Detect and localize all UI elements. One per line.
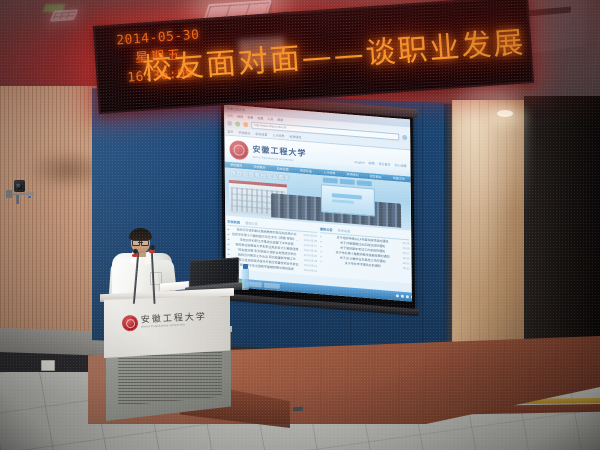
tray-icon[interactable] [396, 294, 399, 297]
bullet-icon [320, 241, 322, 243]
camera-wall-plate [6, 190, 12, 198]
browser-menu-item[interactable]: 编辑 [237, 114, 243, 118]
header-link[interactable]: 设为首页 [378, 162, 390, 167]
header-link[interactable]: 加入收藏 [394, 163, 406, 168]
microphone-windscreen [149, 250, 155, 253]
site-header-links: English 邮箱 设为首页 加入收藏 [355, 160, 407, 168]
led-headline: 校友面对面——谈职业发展 [211, 1, 532, 99]
camera-lens [16, 183, 22, 189]
system-tray [396, 294, 412, 298]
lens-right [141, 240, 149, 246]
water-bottle [242, 268, 249, 290]
wall-panel-seam [422, 102, 423, 354]
projection-screen: 安徽工程大学 文件 编辑 查看 收藏 工具 帮助 http://www.ahpu… [221, 98, 415, 310]
news-column-left: 学校新闻 通知公告 我校召开党的群众路线教育实践活动总结大会2014-05-29… [227, 219, 317, 276]
bullet-icon [320, 236, 322, 238]
search-icon[interactable] [402, 135, 407, 140]
downlight-beam [455, 112, 527, 232]
recessed-downlight [497, 110, 513, 117]
header-link[interactable]: 邮箱 [368, 161, 374, 165]
browser-menu-item[interactable]: 文件 [227, 114, 233, 118]
lecture-hall-photo: 安徽工程大学 文件 编辑 查看 收藏 工具 帮助 http://www.ahpu… [0, 0, 600, 450]
browser-tab[interactable]: 科学研究 [289, 134, 301, 139]
browser-menu-item[interactable]: 帮助 [277, 118, 283, 122]
hero-card-button[interactable] [357, 180, 372, 186]
news-tab[interactable]: 学术动态 [337, 228, 350, 234]
browser-tab[interactable]: 机构设置 [255, 131, 267, 136]
lens-left [132, 240, 140, 246]
bullet-icon [227, 238, 229, 240]
bottle-cap [243, 264, 248, 269]
news-tab-active[interactable]: 学校新闻 [227, 219, 240, 225]
bullet-icon [228, 248, 230, 250]
browser-tab[interactable]: 首页 [227, 129, 233, 133]
projected-image: 安徽工程大学 文件 编辑 查看 收藏 工具 帮助 http://www.ahpu… [224, 104, 412, 301]
site-identity: 安徽工程大学 Anhui Polytechnic University [252, 143, 306, 162]
taskbar-window-button[interactable] [264, 283, 280, 289]
dark-side-area [524, 96, 600, 356]
refresh-icon[interactable] [243, 122, 248, 127]
bullet-icon [320, 251, 322, 253]
bullet-icon [227, 228, 229, 230]
bullet-icon [320, 256, 322, 258]
camera-status-led [28, 196, 31, 198]
podium-logo-text: 安徽工程大学 Anhui Polytechnic University [141, 312, 208, 329]
eyeglasses-icon [132, 240, 149, 244]
hero-overlay-card[interactable] [321, 184, 375, 216]
news-date: 05-22 [403, 266, 410, 272]
tray-icon[interactable] [406, 295, 409, 298]
wall-power-outlet[interactable] [41, 360, 55, 371]
bullet-icon [228, 253, 230, 255]
header-link[interactable]: English [355, 160, 365, 165]
bullet-icon [227, 243, 229, 245]
tray-icon[interactable] [411, 295, 412, 298]
browser-window-title: 安徽工程大学 [227, 107, 245, 112]
news-column-right: 通知公告 学术动态 关于组织申报2014年度科研项目的通知05-29 关于开展暑… [320, 226, 410, 283]
browser-menu-item[interactable]: 查看 [247, 115, 253, 119]
back-icon[interactable] [227, 121, 232, 126]
floor-cable [293, 407, 303, 412]
news-date: 2014-05-21 [304, 268, 317, 274]
hero-card-button[interactable] [340, 179, 355, 185]
university-seal-icon [122, 315, 139, 332]
light-louvers [52, 11, 75, 19]
bullet-icon [320, 246, 322, 248]
news-tab-active[interactable]: 通知公告 [320, 226, 333, 232]
browser-menu-item[interactable]: 收藏 [257, 116, 263, 120]
bullet-icon [227, 233, 229, 235]
bullet-icon [320, 261, 322, 263]
university-seal-icon [229, 139, 248, 160]
forward-icon[interactable] [235, 121, 240, 126]
hero-card-subtext [332, 199, 354, 204]
browser-menu-item[interactable]: 工具 [267, 117, 273, 121]
tray-icon[interactable] [401, 295, 404, 298]
hero-card-buttons [323, 177, 372, 186]
browser-tab[interactable]: 学校概况 [238, 130, 250, 135]
news-tab[interactable]: 通知公告 [245, 220, 258, 226]
microphone-windscreen [132, 254, 138, 257]
camera-post [16, 195, 19, 204]
browser-tab[interactable]: 人才培养 [272, 133, 284, 138]
hero-card-button[interactable] [323, 177, 338, 183]
